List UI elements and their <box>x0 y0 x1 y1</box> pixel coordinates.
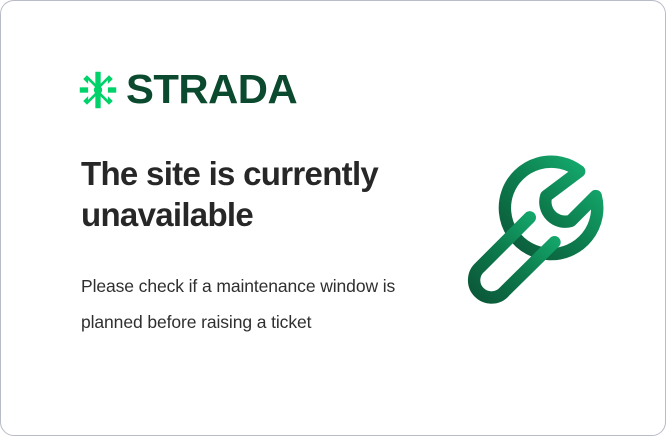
maintenance-card: STRADA The site is currently unavailable… <box>0 0 666 436</box>
wrench-icon <box>453 149 618 314</box>
message-body: Please check if a maintenance window is … <box>81 269 401 341</box>
brand-wordmark: STRADA <box>126 69 297 110</box>
asterisk-starburst-icon <box>79 71 117 109</box>
page-title: The site is currently unavailable <box>81 153 421 236</box>
brand-logo: STRADA <box>79 69 294 110</box>
